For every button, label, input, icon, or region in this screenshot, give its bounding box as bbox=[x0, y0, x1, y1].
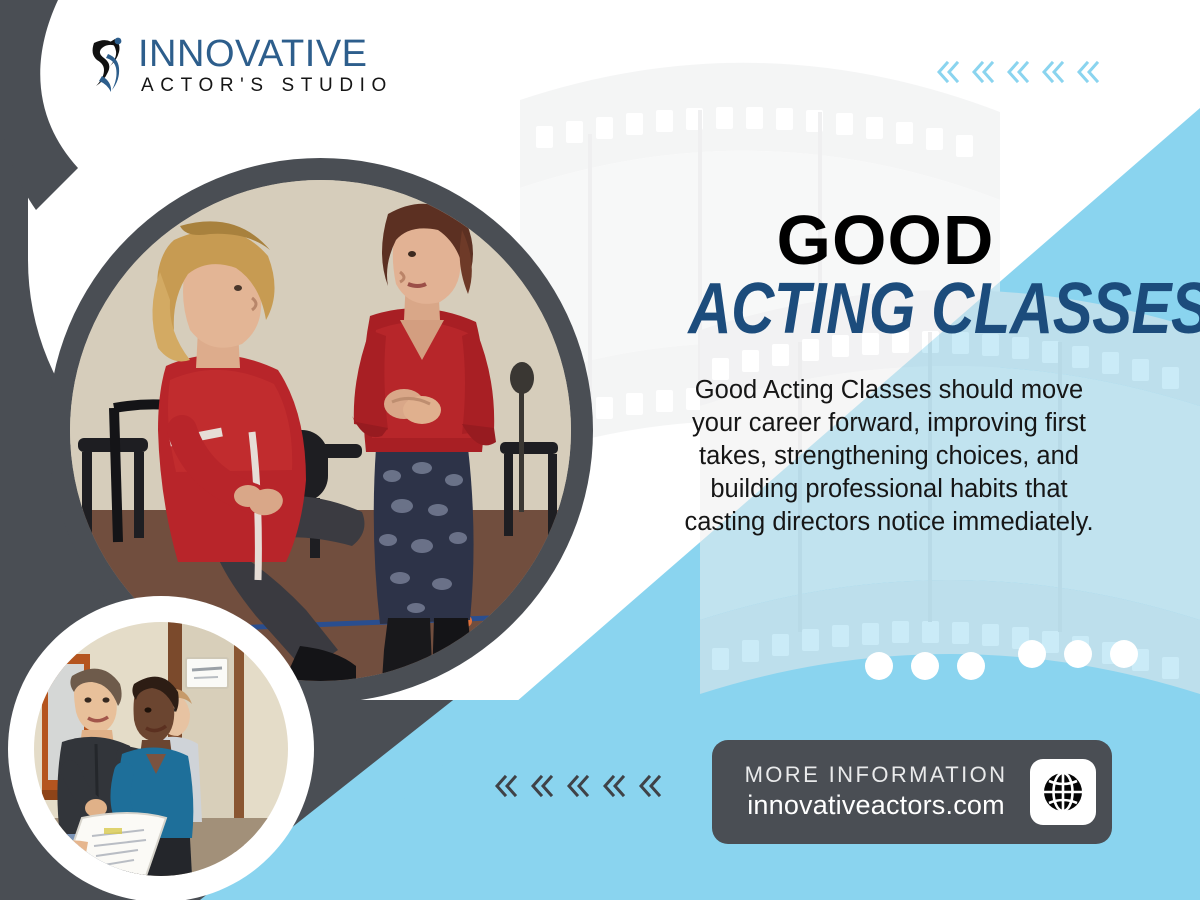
decorative-dot bbox=[1110, 640, 1138, 668]
headline-line2: ACTING CLASSES bbox=[688, 275, 1082, 344]
headline-block: GOOD ACTING CLASSES bbox=[648, 206, 1123, 344]
brand-name-secondary: ACTOR'S STUDIO bbox=[138, 76, 393, 95]
brand-name-primary: INNOVATIVE bbox=[138, 35, 393, 73]
double-chevron-left-icon bbox=[1074, 58, 1102, 91]
double-chevron-left-icon bbox=[969, 58, 997, 91]
decorative-dot bbox=[957, 652, 985, 680]
dot-decor-left bbox=[865, 652, 985, 680]
brand-logo[interactable]: INNOVATIVE ACTOR'S STUDIO bbox=[88, 34, 393, 96]
dot-decor-right bbox=[1018, 640, 1138, 668]
globe-icon[interactable] bbox=[1030, 759, 1096, 825]
body-paragraph: Good Acting Classes should move your car… bbox=[668, 374, 1110, 538]
double-chevron-left-icon bbox=[1004, 58, 1032, 91]
double-chevron-left-icon bbox=[528, 772, 556, 805]
double-chevron-left-icon bbox=[492, 772, 520, 805]
cta-website: innovativeactors.com bbox=[736, 789, 1016, 823]
abstract-figure-icon bbox=[88, 34, 128, 96]
double-chevron-left-icon bbox=[1039, 58, 1067, 91]
double-chevron-left-icon bbox=[564, 772, 592, 805]
decorative-dot bbox=[911, 652, 939, 680]
cta-label: MORE INFORMATION bbox=[736, 761, 1016, 789]
chevron-decor-bottom bbox=[492, 772, 664, 805]
decorative-dot bbox=[865, 652, 893, 680]
double-chevron-left-icon bbox=[636, 772, 664, 805]
decorative-dot bbox=[1018, 640, 1046, 668]
more-information-button[interactable]: MORE INFORMATION innovativeactors.com bbox=[712, 740, 1112, 844]
headline-line1: GOOD bbox=[648, 206, 1123, 275]
double-chevron-left-icon bbox=[934, 58, 962, 91]
poster-canvas: INNOVATIVE ACTOR'S STUDIO GOOD ACTING CL… bbox=[0, 0, 1200, 900]
students-reviewing-script-photo bbox=[8, 596, 314, 900]
double-chevron-left-icon bbox=[600, 772, 628, 805]
decorative-dot bbox=[1064, 640, 1092, 668]
chevron-decor-top bbox=[934, 58, 1102, 91]
